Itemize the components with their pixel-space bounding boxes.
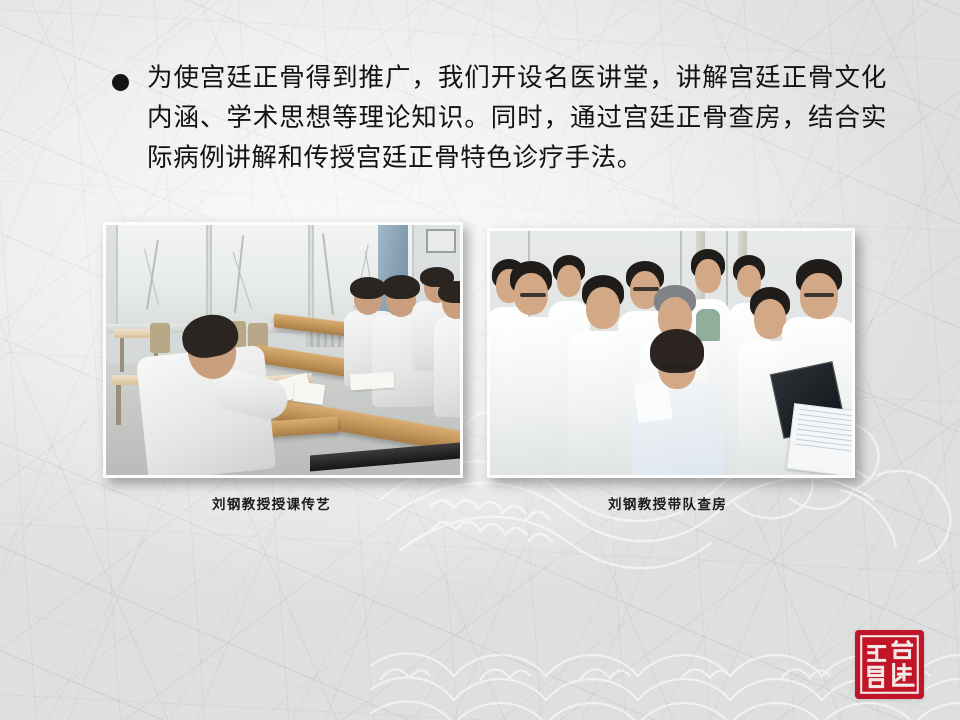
slide-canvas: 为使宫廷正骨得到推广，我们开设名医讲堂，讲解宫廷正骨文化内涵、学术思想等理论知识… — [0, 0, 960, 720]
photo-ward-round-scene — [490, 231, 852, 475]
bullet-row: 为使宫廷正骨得到推广，我们开设名医讲堂，讲解宫廷正骨文化内涵、学术思想等理论知识… — [112, 58, 887, 178]
bullet-block: 为使宫廷正骨得到推广，我们开设名医讲堂，讲解宫廷正骨文化内涵、学术思想等理论知识… — [112, 58, 887, 178]
caption-ward-round: 刘钢教授带队查房 — [608, 493, 727, 513]
photo-ward-round[interactable] — [487, 228, 855, 478]
bullet-dot-icon — [112, 74, 129, 91]
photo-lecture[interactable] — [103, 222, 463, 478]
seal-stamp-icon — [855, 630, 924, 699]
photo-lecture-scene — [106, 225, 460, 475]
body-paragraph: 为使宫廷正骨得到推广，我们开设名医讲堂，讲解宫廷正骨文化内涵、学术思想等理论知识… — [147, 58, 887, 178]
caption-lecture: 刘钢教授授课传艺 — [212, 493, 331, 513]
